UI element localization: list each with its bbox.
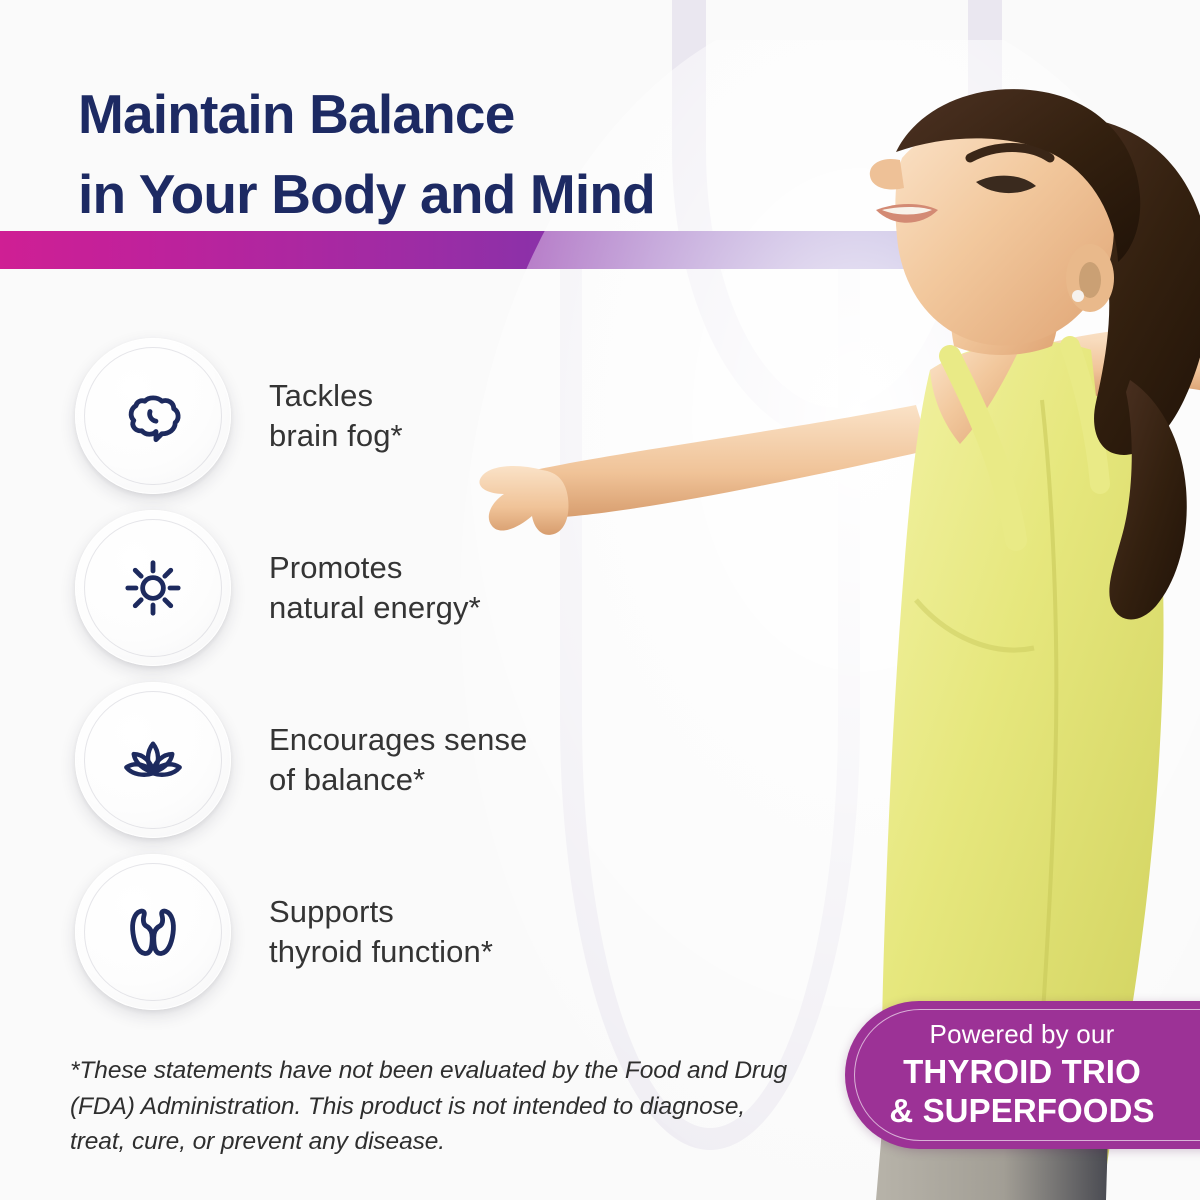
list-item: Tackles brain fog* <box>0 330 600 502</box>
page-title: Maintain Balance in Your Body and Mind <box>78 75 655 235</box>
feature-label: Encourages sense of balance* <box>269 720 527 801</box>
feature-label: Tackles brain fog* <box>269 376 403 457</box>
feature-icon-badge <box>75 854 231 1010</box>
feature-icon-badge <box>75 682 231 838</box>
list-item: Encourages sense of balance* <box>0 674 600 846</box>
thyroid-icon <box>116 895 190 969</box>
sun-icon <box>116 551 190 625</box>
powered-by-badge: Powered by our THYROID TRIO & SUPERFOODS <box>845 1001 1200 1149</box>
feature-list: Tackles brain fog* Promotes natural ener… <box>0 330 600 1018</box>
marketing-infographic: Maintain Balance in Your Body and Mind T… <box>0 0 1200 1200</box>
feature-icon-badge <box>75 338 231 494</box>
lotus-icon <box>116 723 190 797</box>
badge-main-label: THYROID TRIO & SUPERFOODS <box>889 1053 1154 1130</box>
list-item: Promotes natural energy* <box>0 502 600 674</box>
watermark-arc-bottom-icon <box>560 250 860 1150</box>
feature-label: Supports thyroid function* <box>269 892 493 973</box>
fda-disclaimer: *These statements have not been evaluate… <box>70 1053 800 1160</box>
gradient-divider <box>0 231 1200 269</box>
badge-top-label: Powered by our <box>930 1019 1115 1050</box>
feature-icon-badge <box>75 510 231 666</box>
brain-icon <box>116 379 190 453</box>
list-item: Supports thyroid function* <box>0 846 600 1018</box>
feature-label: Promotes natural energy* <box>269 548 481 629</box>
